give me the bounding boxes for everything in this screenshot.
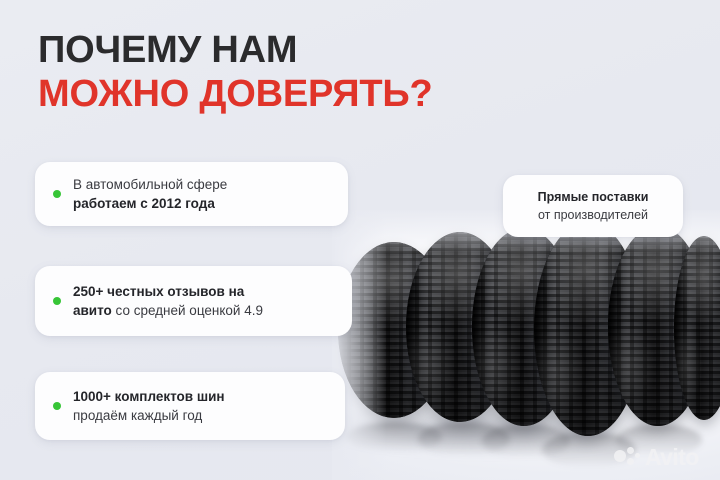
benefit-card-experience-text: В автомобильной сфере работаем с 2012 го… [73,175,227,213]
benefit-card-reviews[interactable]: 250+ честных отзывов на авито со средней… [35,266,352,336]
benefit-2-line-1: 250+ честных отзывов на [73,284,244,299]
benefit-card-reviews-text: 250+ честных отзывов на авито со средней… [73,282,263,320]
promo-banner: ПОЧЕМУ НАМ МОЖНО ДОВЕРЯТЬ? В автомобильн… [0,0,720,480]
benefit-card-volume[interactable]: 1000+ комплектов шин продаём каждый год [35,372,345,440]
benefit-card-supply[interactable]: Прямые поставки от производителей [503,175,683,237]
bullet-dot-icon [53,402,61,410]
bullet-dot-icon [53,190,61,198]
title-line-2: МОЖНО ДОВЕРЯТЬ? [38,74,432,114]
tire-photo [332,210,720,480]
avito-watermark: Avito [614,446,699,469]
page-title: ПОЧЕМУ НАМ МОЖНО ДОВЕРЯТЬ? [38,30,432,115]
benefit-card-supply-text: Прямые поставки от производителей [538,188,649,224]
benefit-2-rating: со средней оценкой 4.9 [112,303,263,318]
benefit-1-line-1: В автомобильной сфере [73,177,227,192]
tire-6 [674,236,720,420]
benefit-3-line-2: продаём каждый год [73,408,202,423]
benefit-2-brand: авито [73,303,112,318]
title-line-1: ПОЧЕМУ НАМ [38,30,432,70]
bullet-dot-icon [53,297,61,305]
benefit-4-line-2: от производителей [538,208,648,222]
avito-wordmark: Avito [645,446,699,469]
benefit-card-volume-text: 1000+ комплектов шин продаём каждый год [73,387,225,425]
avito-logo-icon [614,447,640,469]
benefit-card-experience[interactable]: В автомобильной сфере работаем с 2012 го… [35,162,348,226]
benefit-4-line-1: Прямые поставки [538,190,649,204]
benefit-1-line-2: работаем с 2012 года [73,196,215,211]
tire-row [332,210,720,480]
benefit-3-line-1: 1000+ комплектов шин [73,389,225,404]
